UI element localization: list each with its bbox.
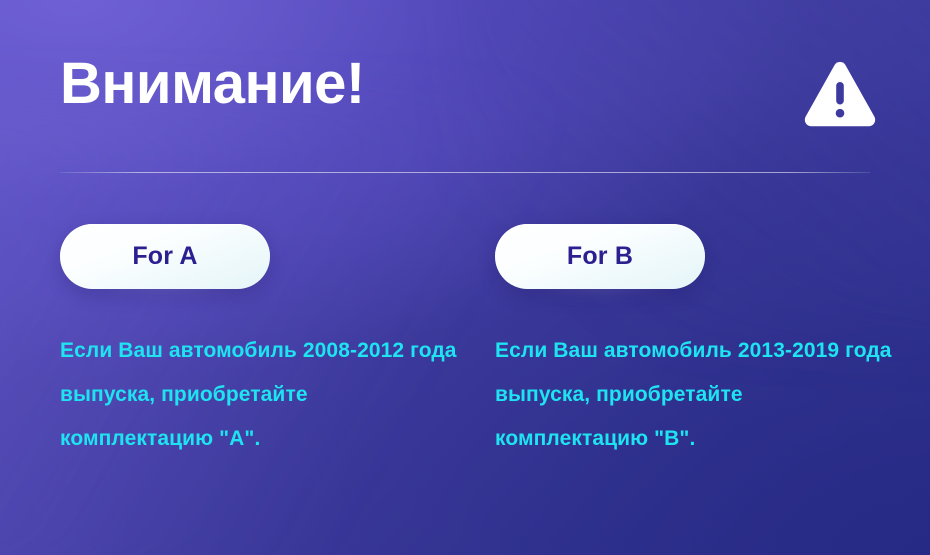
header-divider [60,172,870,173]
page-title: Внимание! [60,54,365,115]
for-a-button[interactable]: For A [60,224,270,289]
option-b-description: Если Ваш автомобиль 2013-2019 года выпус… [495,289,895,461]
for-a-button-wrap: For A [60,224,270,289]
warning-triangle-icon [803,60,877,130]
for-b-button[interactable]: For B [495,224,705,289]
attention-banner: Внимание! For A Если Ваш автомобиль 2008… [0,0,930,555]
option-column-a: For A Если Ваш автомобиль 2008-2012 года… [60,224,480,461]
for-b-button-wrap: For B [495,224,705,289]
option-a-description: Если Ваш автомобиль 2008-2012 года выпус… [60,289,460,461]
option-column-b: For B Если Ваш автомобиль 2013-2019 года… [495,224,915,461]
